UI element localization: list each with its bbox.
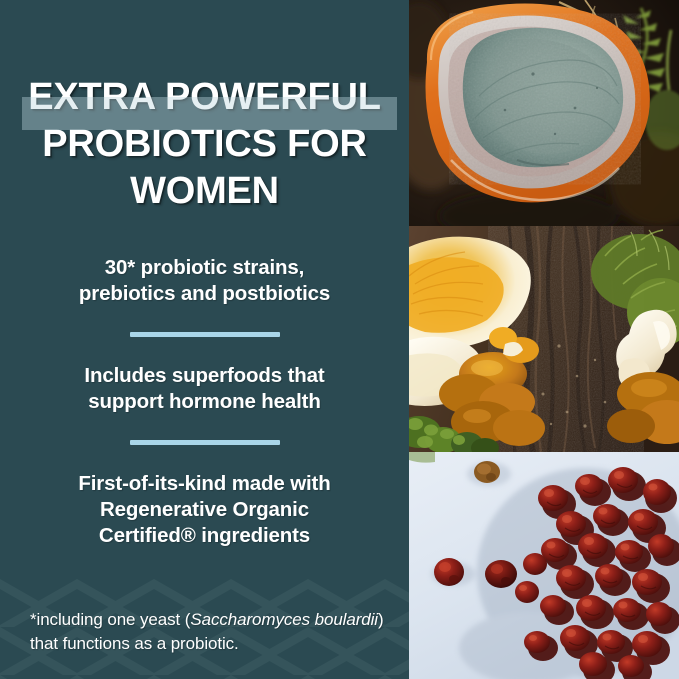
headline-line-3: WOMEN xyxy=(0,168,409,215)
benefit-2-line-1: Includes superfoods that xyxy=(0,363,409,389)
benefit-3-line-2: Regenerative Organic xyxy=(0,497,409,523)
benefit-3-line-3: Certified® ingredients xyxy=(0,523,409,549)
benefit-divider-1 xyxy=(130,332,280,337)
footnote-prefix: *including one yeast ( xyxy=(30,610,190,629)
footnote: *including one yeast (Saccharomyces boul… xyxy=(30,608,385,656)
benefit-item-3: First-of-its-kind made with Regenerative… xyxy=(0,471,409,549)
product-infographic: EXTRA POWERFUL PROBIOTICS FOR WOMEN 30* … xyxy=(0,0,679,679)
dried-red-berries-photo xyxy=(409,452,679,679)
left-text-panel: EXTRA POWERFUL PROBIOTICS FOR WOMEN 30* … xyxy=(0,0,409,679)
page-title: EXTRA POWERFUL PROBIOTICS FOR WOMEN xyxy=(0,74,409,215)
benefit-3-line-1: First-of-its-kind made with xyxy=(0,471,409,497)
photo-column xyxy=(409,0,679,679)
headline-highlight-bar xyxy=(22,97,397,130)
benefits-list: 30* probiotic strains, prebiotics and po… xyxy=(0,255,409,549)
benefit-divider-2 xyxy=(130,440,280,445)
benefit-1-line-1: 30* probiotic strains, xyxy=(0,255,409,281)
reishi-mushroom-photo xyxy=(409,0,679,226)
benefit-item-2: Includes superfoods that support hormone… xyxy=(0,363,409,415)
footnote-species-name: Saccharomyces boulardii xyxy=(190,610,378,629)
chicken-of-the-woods-photo xyxy=(409,226,679,452)
benefit-1-line-2: prebiotics and postbiotics xyxy=(0,281,409,307)
benefit-item-1: 30* probiotic strains, prebiotics and po… xyxy=(0,255,409,307)
benefit-2-line-2: support hormone health xyxy=(0,389,409,415)
